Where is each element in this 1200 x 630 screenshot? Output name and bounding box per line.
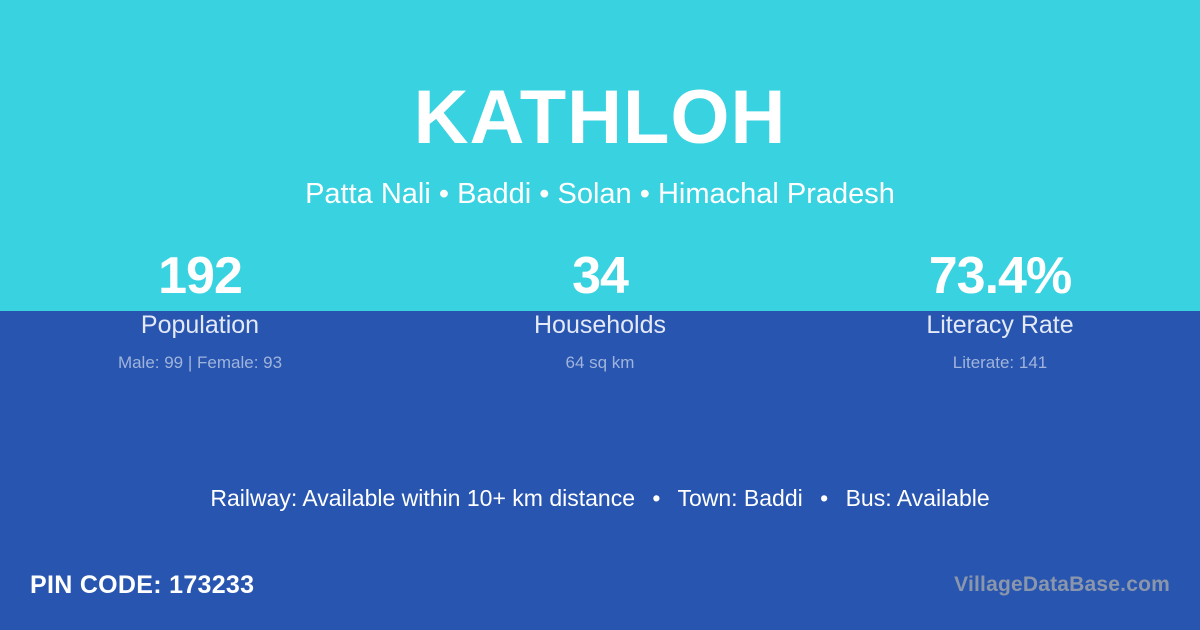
card-footer: PIN CODE: 173233 VillageDataBase.com (0, 558, 1200, 630)
stat-population: 192 Population Male: 99 | Female: 93 (0, 246, 400, 375)
info-separator-2: • (809, 484, 839, 514)
stats-row: 192 Population Male: 99 | Female: 93 34 … (0, 246, 1200, 375)
stat-value-literacy-rate: 73.4% (800, 246, 1200, 307)
location-breadcrumb: Patta Nali • Baddi • Solan • Himachal Pr… (0, 178, 1200, 211)
village-info-card: KATHLOH Patta Nali • Baddi • Solan • Him… (0, 0, 1200, 630)
stat-households: 34 Households 64 sq km (400, 246, 800, 375)
stat-sub-population: Male: 99 | Female: 93 (0, 351, 400, 375)
stat-value-households: 34 (400, 246, 800, 307)
brand-watermark: VillageDataBase.com (954, 573, 1170, 597)
stat-value-population: 192 (0, 246, 400, 307)
info-railway: Railway: Available within 10+ km distanc… (210, 485, 635, 511)
stat-label-households: Households (400, 309, 800, 342)
amenities-info-line: Railway: Available within 10+ km distanc… (0, 484, 1200, 514)
info-bus: Bus: Available (846, 485, 990, 511)
stat-sub-households: 64 sq km (400, 351, 800, 375)
pin-code: PIN CODE: 173233 (30, 571, 254, 600)
info-separator-1: • (641, 484, 671, 514)
info-town: Town: Baddi (677, 485, 802, 511)
stat-label-population: Population (0, 309, 400, 342)
village-title: KATHLOH (0, 80, 1200, 156)
stat-sub-literacy-rate: Literate: 141 (800, 351, 1200, 375)
card-header: KATHLOH Patta Nali • Baddi • Solan • Him… (0, 0, 1200, 211)
stat-label-literacy-rate: Literacy Rate (800, 309, 1200, 342)
stat-literacy-rate: 73.4% Literacy Rate Literate: 141 (800, 246, 1200, 375)
